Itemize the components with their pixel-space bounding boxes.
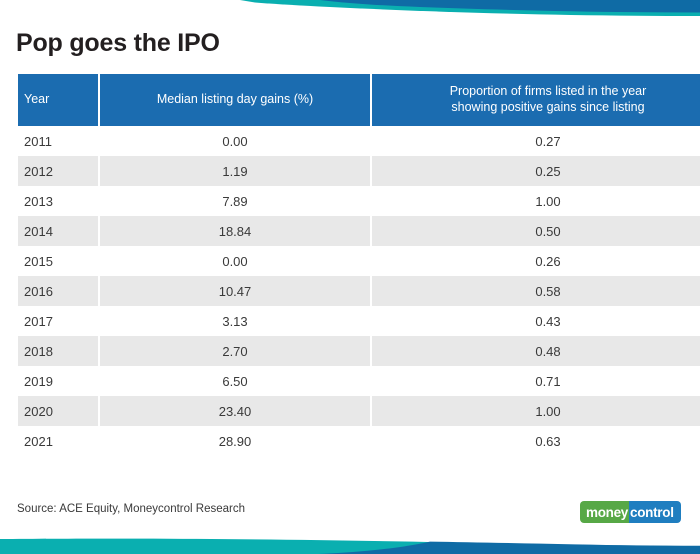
ipo-data-table-container: Year Median listing day gains (%) Propor… (16, 74, 686, 456)
cell-median-gain: 10.47 (100, 276, 370, 306)
table-row: 2021 28.90 0.63 (18, 426, 700, 456)
cell-year: 2017 (18, 306, 98, 336)
table-header: Year Median listing day gains (%) Propor… (18, 74, 700, 126)
cell-median-gain: 1.19 (100, 156, 370, 186)
moneycontrol-logo: money control (580, 501, 681, 523)
table-row: 2011 0.00 0.27 (18, 126, 700, 156)
cell-year: 2014 (18, 216, 98, 246)
cell-proportion: 0.25 (372, 156, 700, 186)
cell-proportion: 0.26 (372, 246, 700, 276)
column-header-year: Year (18, 74, 98, 126)
source-note: Source: ACE Equity, Moneycontrol Researc… (17, 503, 245, 515)
table-row: 2018 2.70 0.48 (18, 336, 700, 366)
table-row: 2012 1.19 0.25 (18, 156, 700, 186)
cell-proportion: 0.43 (372, 306, 700, 336)
cell-year: 2019 (18, 366, 98, 396)
table-row: 2016 10.47 0.58 (18, 276, 700, 306)
top-banner-wave (0, 0, 700, 18)
cell-year: 2013 (18, 186, 98, 216)
cell-median-gain: 18.84 (100, 216, 370, 246)
cell-year: 2012 (18, 156, 98, 186)
table-row: 2019 6.50 0.71 (18, 366, 700, 396)
cell-proportion: 1.00 (372, 186, 700, 216)
cell-year: 2018 (18, 336, 98, 366)
cell-median-gain: 0.00 (100, 246, 370, 276)
cell-year: 2021 (18, 426, 98, 456)
cell-proportion: 0.48 (372, 336, 700, 366)
cell-proportion: 0.50 (372, 216, 700, 246)
column-header-median-listing-day-gains: Median listing day gains (%) (100, 74, 370, 126)
page-title: Pop goes the IPO (16, 30, 220, 58)
cell-median-gain: 0.00 (100, 126, 370, 156)
column-header-proportion-line1: Proportion of firms listed in the year (450, 84, 647, 98)
bottom-decorative-banner (0, 533, 700, 554)
table-row: 2015 0.00 0.26 (18, 246, 700, 276)
table-row: 2020 23.40 1.00 (18, 396, 700, 426)
top-decorative-banner (0, 0, 700, 18)
column-header-proportion-line2: showing positive gains since listing (451, 100, 644, 114)
column-header-proportion-positive-gains: Proportion of firms listed in the year s… (372, 74, 700, 126)
table-row: 2013 7.89 1.00 (18, 186, 700, 216)
cell-year: 2011 (18, 126, 98, 156)
bottom-banner-wave (0, 533, 700, 554)
cell-median-gain: 23.40 (100, 396, 370, 426)
logo-text-money: money (580, 501, 629, 523)
cell-median-gain: 28.90 (100, 426, 370, 456)
cell-proportion: 0.58 (372, 276, 700, 306)
ipo-data-table: Year Median listing day gains (%) Propor… (16, 74, 700, 456)
cell-median-gain: 3.13 (100, 306, 370, 336)
cell-proportion: 0.71 (372, 366, 700, 396)
table-header-row: Year Median listing day gains (%) Propor… (18, 74, 700, 126)
cell-median-gain: 2.70 (100, 336, 370, 366)
table-body: 2011 0.00 0.27 2012 1.19 0.25 2013 7.89 … (18, 126, 700, 456)
cell-median-gain: 6.50 (100, 366, 370, 396)
cell-proportion: 0.27 (372, 126, 700, 156)
table-row: 2017 3.13 0.43 (18, 306, 700, 336)
cell-proportion: 1.00 (372, 396, 700, 426)
table-row: 2014 18.84 0.50 (18, 216, 700, 246)
logo-text-control: control (629, 501, 681, 523)
cell-year: 2015 (18, 246, 98, 276)
cell-year: 2016 (18, 276, 98, 306)
cell-year: 2020 (18, 396, 98, 426)
cell-median-gain: 7.89 (100, 186, 370, 216)
cell-proportion: 0.63 (372, 426, 700, 456)
